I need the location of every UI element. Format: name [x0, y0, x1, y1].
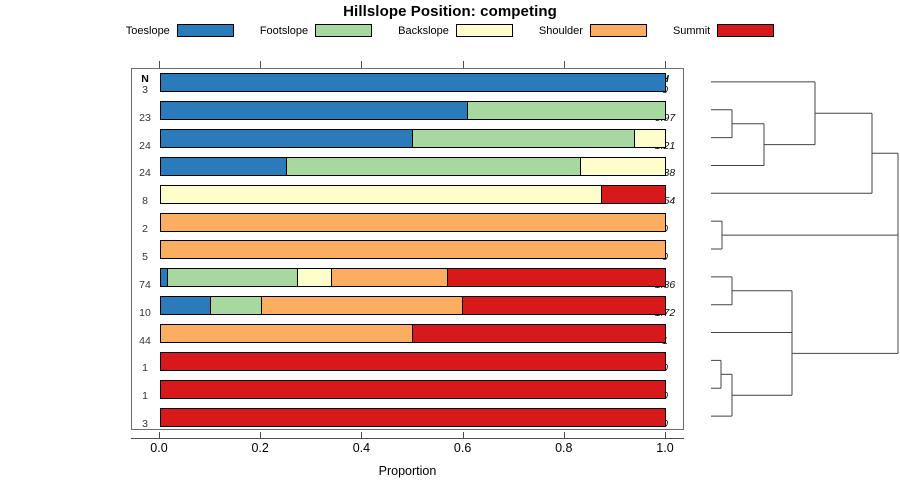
bar-segment-summit	[413, 325, 665, 342]
stacked-bar	[160, 268, 666, 287]
table-row: BUICK30	[132, 403, 685, 431]
bar-segment-backslope	[161, 186, 602, 203]
legend-item-backslope: Backslope	[398, 24, 513, 37]
x-tick-label: 1.0	[635, 441, 695, 455]
stacked-bar	[160, 73, 666, 92]
n-value: 10	[132, 308, 158, 319]
x-axis-title: Proportion	[131, 464, 684, 478]
top-tick	[260, 61, 261, 68]
x-tick	[463, 432, 464, 439]
x-tick	[361, 432, 362, 439]
x-tick-label: 0.8	[534, 441, 594, 455]
n-value: 5	[132, 252, 158, 263]
bar-segment-footslope	[287, 158, 581, 175]
stacked-bar	[160, 408, 666, 427]
bar-segment-toeslope	[161, 297, 211, 314]
bar-segment-summit	[463, 297, 665, 314]
x-tick	[159, 432, 160, 439]
top-tick	[463, 61, 464, 68]
bar-segment-toeslope	[161, 158, 287, 175]
chart-root: Hillslope Position: competing ToeslopeFo…	[0, 0, 900, 500]
legend-label: Footslope	[260, 25, 308, 37]
legend-swatch	[590, 24, 647, 37]
legend-swatch	[456, 24, 513, 37]
top-tick	[159, 61, 160, 68]
bar-segment-shoulder	[332, 269, 448, 286]
table-row: ELPEDRO241.21	[132, 125, 685, 153]
stacked-bar	[160, 352, 666, 371]
bar-segment-shoulder	[161, 325, 413, 342]
n-value: 1	[132, 391, 158, 402]
top-tick	[665, 61, 666, 68]
x-tick	[564, 432, 565, 439]
table-row: OSHOTO241.38	[132, 153, 685, 181]
table-row: SHARPS20	[132, 208, 685, 236]
chart-title: Hillslope Position: competing	[0, 3, 900, 20]
bar-segment-shoulder	[262, 297, 464, 314]
legend-item-toeslope: Toeslope	[126, 24, 234, 37]
bar-segment-backslope	[635, 130, 665, 147]
bar-segment-footslope	[211, 297, 261, 314]
bar-segment-summit	[448, 269, 665, 286]
table-row: ALTEGA101.72	[132, 292, 685, 320]
bar-segment-toeslope	[161, 269, 168, 286]
n-value: 8	[132, 196, 158, 207]
legend-item-summit: Summit	[673, 24, 774, 37]
n-value: 23	[132, 113, 158, 124]
stacked-bar	[160, 157, 666, 176]
bar-segment-summit	[161, 353, 665, 370]
bar-segment-toeslope	[161, 74, 665, 91]
top-tick	[564, 61, 565, 68]
legend-item-footslope: Footslope	[260, 24, 372, 37]
n-value: 24	[132, 141, 158, 152]
n-value: 24	[132, 168, 158, 179]
legend-label: Shoulder	[539, 25, 583, 37]
legend-swatch	[177, 24, 234, 37]
n-value: 2	[132, 224, 158, 235]
bar-segment-toeslope	[161, 102, 468, 119]
n-value: 3	[132, 85, 158, 96]
legend-swatch	[717, 24, 774, 37]
table-row: CHITA50	[132, 236, 685, 264]
plot-panel: N H AMAL30KEISER230.97ELPEDRO241.21OSHOT…	[131, 68, 684, 430]
n-value: 74	[132, 280, 158, 291]
stacked-bar	[160, 296, 666, 315]
x-tick-label: 0.2	[230, 441, 290, 455]
dendrogram	[684, 68, 900, 430]
x-tick-label: 0.4	[331, 441, 391, 455]
x-tick-label: 0.6	[433, 441, 493, 455]
table-row: WILEY741.86	[132, 264, 685, 292]
top-tick	[361, 61, 362, 68]
table-row: KEISER230.97	[132, 97, 685, 125]
x-axis-line	[131, 438, 684, 439]
legend-item-shoulder: Shoulder	[539, 24, 647, 37]
bar-segment-shoulder	[161, 214, 665, 231]
bar-segment-footslope	[468, 102, 665, 119]
stacked-bar	[160, 324, 666, 343]
legend-swatch	[315, 24, 372, 37]
table-row: CHEVELON80.54	[132, 180, 685, 208]
table-row: KLINEDRAW441	[132, 320, 685, 348]
x-tick-label: 0.0	[129, 441, 189, 455]
stacked-bar	[160, 380, 666, 399]
bar-segment-toeslope	[161, 130, 413, 147]
x-tick	[665, 432, 666, 439]
bar-segment-shoulder	[161, 241, 665, 258]
table-row: PULPIT10	[132, 375, 685, 403]
bar-segment-backslope	[298, 269, 332, 286]
bar-segment-summit	[161, 409, 665, 426]
n-value: 44	[132, 336, 158, 347]
stacked-bar	[160, 185, 666, 204]
bar-segment-backslope	[581, 158, 665, 175]
table-row: AMAL30	[132, 69, 685, 97]
bar-segment-summit	[161, 381, 665, 398]
stacked-bar	[160, 129, 666, 148]
bar-segment-footslope	[413, 130, 635, 147]
x-tick	[260, 432, 261, 439]
legend-label: Backslope	[398, 25, 449, 37]
n-value: 1	[132, 363, 158, 374]
n-value: 3	[132, 419, 158, 430]
stacked-bar	[160, 213, 666, 232]
stacked-bar	[160, 101, 666, 120]
legend-label: Toeslope	[126, 25, 170, 37]
stacked-bar	[160, 240, 666, 259]
bar-segment-footslope	[168, 269, 298, 286]
legend-label: Summit	[673, 25, 710, 37]
bar-segment-summit	[602, 186, 665, 203]
table-row: WETHERILL10	[132, 347, 685, 375]
legend: ToeslopeFootslopeBackslopeShoulderSummit	[0, 24, 900, 40]
bar-rows: AMAL30KEISER230.97ELPEDRO241.21OSHOTO241…	[132, 69, 685, 431]
